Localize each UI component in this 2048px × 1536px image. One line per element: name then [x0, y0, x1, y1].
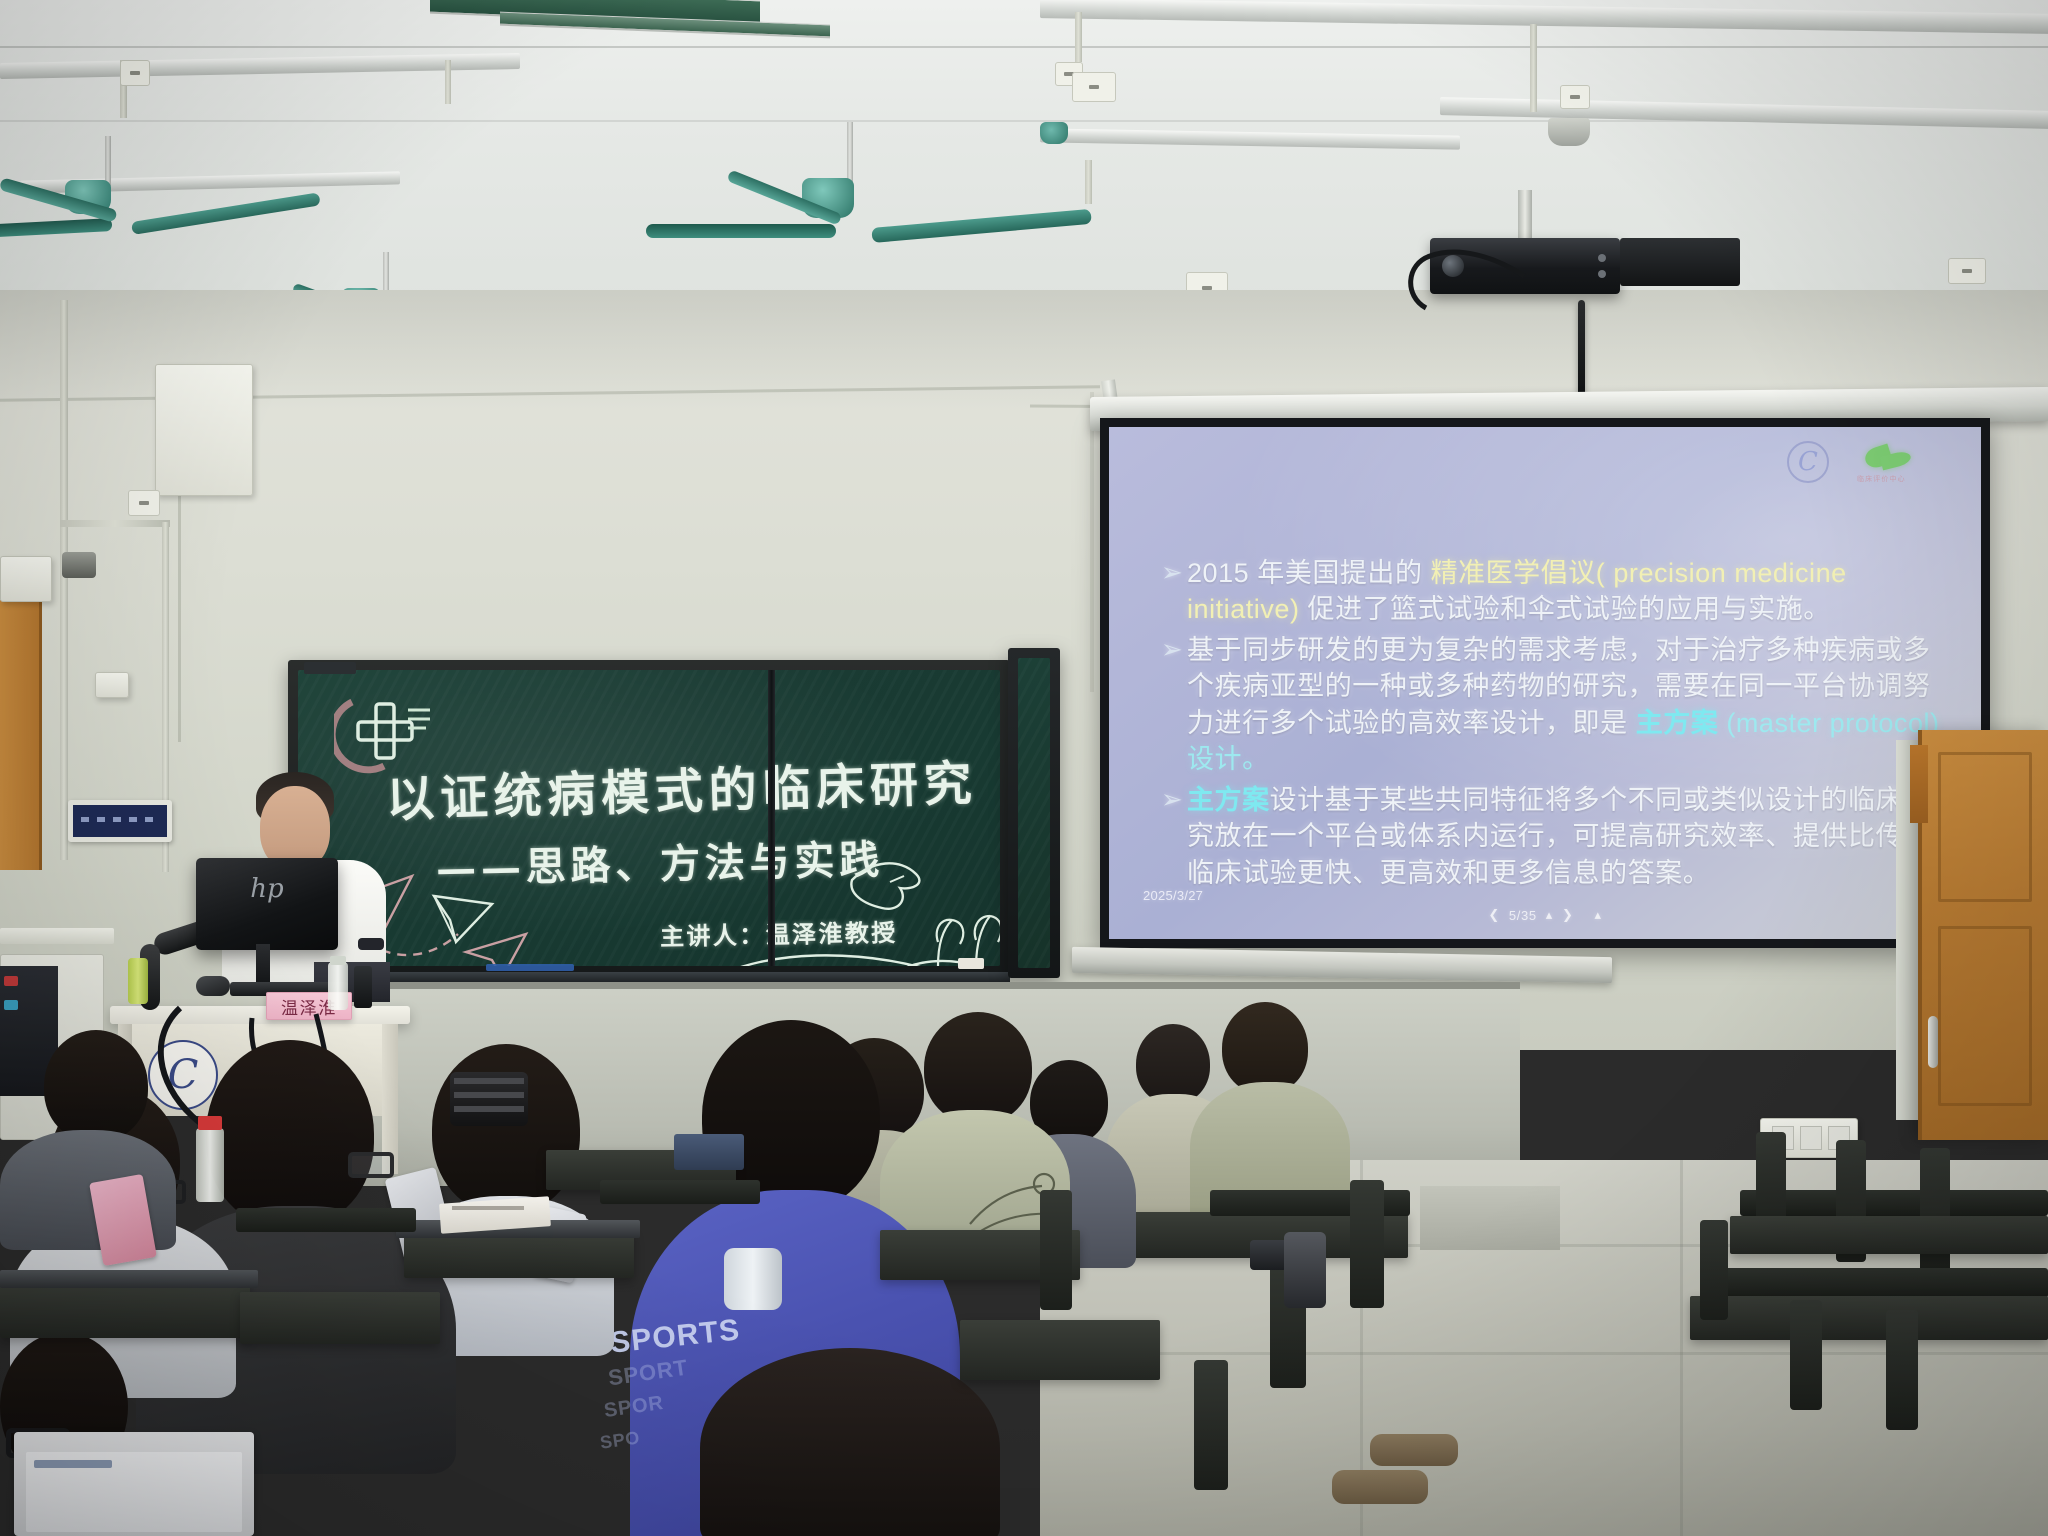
- nav-up-icon[interactable]: ▴: [1546, 907, 1553, 923]
- nav-counter: 5/35: [1509, 908, 1537, 923]
- ceiling-fan: [20, 136, 310, 286]
- chair-back: [1194, 1360, 1228, 1490]
- hp-logo: hp: [250, 874, 283, 904]
- floor-tile-seam: [1680, 1160, 1683, 1536]
- ceiling-fan: [740, 122, 1080, 282]
- bullet-text-2: 基于同步研发的更为复杂的需求考虑，对于治疗多种疾病或多个疾病亚型的一种或多种药物…: [1187, 632, 1951, 778]
- ceiling-junction-box: [1948, 258, 1986, 284]
- leaf-logo-caption: 临床评价中心: [1857, 474, 1906, 484]
- chair-back: [1700, 1220, 1728, 1320]
- ceiling-socket: [1560, 85, 1590, 109]
- paper-line: [452, 1206, 524, 1210]
- audience-head: [44, 1030, 148, 1142]
- blackboard-panel-divider: [768, 670, 775, 966]
- desk-row: [1690, 1296, 2048, 1340]
- cabinet-indicator: [4, 976, 18, 986]
- ceiling-drop-rod: [1075, 12, 1082, 62]
- bullet-1-seg-1: 2015 年美国提出的: [1187, 558, 1431, 588]
- door-handle[interactable]: [1928, 1016, 1938, 1068]
- nav-prev-icon[interactable]: ❮: [1488, 907, 1500, 923]
- ceiling-drop-rod: [445, 60, 451, 104]
- circular-institute-logo: C: [1787, 441, 1829, 483]
- nav-menu-icon[interactable]: ▴: [1595, 907, 1602, 923]
- chalk-marker: [486, 964, 574, 971]
- ceiling-drop-rod: [1085, 160, 1092, 204]
- bullet-2-seg-2-highlight: 主方案: [1636, 708, 1719, 738]
- blackboard-brand-tag: [304, 662, 356, 674]
- cabinet-indicator: [4, 1000, 18, 1010]
- ground-line-doodle: [708, 938, 1000, 966]
- audience-member-foreground: [700, 1348, 1000, 1536]
- ceiling-socket: [120, 60, 150, 86]
- bag: [1284, 1232, 1326, 1308]
- light-switch[interactable]: [1800, 1126, 1822, 1150]
- mouse[interactable]: [196, 976, 230, 996]
- chair-back: [1350, 1180, 1384, 1308]
- bullet-marker-icon: ➢: [1161, 632, 1187, 778]
- side-door[interactable]: [0, 600, 42, 870]
- ceiling-junction-box: [1072, 72, 1116, 102]
- door-upper-panel: [1938, 752, 2032, 902]
- audience-member: [1190, 1002, 1350, 1222]
- bullet-text-3: 主方案设计基于某些共同特征将多个不同或类似设计的临床研究放在一个平台或体系内运行…: [1187, 782, 1951, 891]
- thermos-cup: [724, 1248, 782, 1310]
- stage-step: [1420, 1186, 1560, 1250]
- bench-row: [1700, 1268, 2048, 1298]
- desk-panel: [674, 1134, 744, 1170]
- shoe: [1332, 1470, 1428, 1504]
- door-lower-panel: [1938, 926, 2032, 1106]
- wall-equipment-box: [155, 364, 253, 496]
- blackboard-eraser: [958, 958, 984, 969]
- lecture-hall-photo: 以证统病模式的临床研究 ——思路、方法与实践 主讲人：温泽淮教授: [0, 0, 2048, 1536]
- blackboard-side-panel: [1008, 648, 1060, 978]
- desk-row: [0, 1282, 250, 1338]
- bullet-marker-icon: ➢: [1161, 555, 1187, 628]
- ceiling-drop-rod: [1530, 24, 1537, 112]
- fan-motor-cap: [1040, 122, 1068, 144]
- audience-head: [1222, 1002, 1308, 1094]
- wall-conduit: [60, 300, 68, 860]
- bottle-cap: [330, 956, 346, 965]
- slide-bullet-list: ➢ 2015 年美国提出的 精准医学倡议( precision medicine…: [1161, 555, 1951, 895]
- slide-bullet-2: ➢ 基于同步研发的更为复杂的需求考虑，对于治疗多种疾病或多个疾病亚型的一种或多种…: [1161, 632, 1951, 778]
- slide-nav-bar[interactable]: ❮ 5/35 ▴ ❯ ▴: [1488, 907, 1601, 923]
- bullet-marker-icon: ➢: [1161, 782, 1187, 891]
- presenter-watch: [358, 938, 384, 950]
- slide-bullet-3: ➢ 主方案设计基于某些共同特征将多个不同或类似设计的临床研究放在一个平台或体系内…: [1161, 782, 1951, 891]
- door-header-box: [0, 556, 52, 602]
- desk-surface: [0, 1270, 258, 1288]
- bullet-1-seg-3: 促进了篮式试验和伞式试验的应用与实施。: [1299, 594, 1830, 624]
- wall-seam: [1090, 392, 1094, 692]
- desk-row: [240, 1292, 440, 1344]
- bench-row: [1740, 1190, 2048, 1216]
- audience-head: [206, 1040, 374, 1228]
- bench-row: [236, 1208, 416, 1232]
- chair-back: [1920, 1148, 1950, 1274]
- bottle-cap: [198, 1116, 222, 1130]
- blackboard-title: 以证统病模式的临床研究: [385, 744, 978, 830]
- ceiling-panel-seam: [0, 46, 2048, 48]
- bench-row: [600, 1180, 760, 1204]
- projector-body-extension: [1620, 238, 1740, 286]
- cable-coil: [62, 552, 96, 578]
- projection-screen: C 临床评价中心 ➢ 2015 年美国提出的 精准医学倡议( precision…: [1100, 418, 1990, 948]
- slide-bullet-1: ➢ 2015 年美国提出的 精准医学倡议( precision medicine…: [1161, 555, 1951, 628]
- slide-date: 2025/3/27: [1143, 888, 1203, 903]
- eyeglasses: [348, 1152, 394, 1178]
- bullet-text-1: 2015 年美国提出的 精准医学倡议( precision medicine i…: [1187, 555, 1951, 628]
- audience-head: [700, 1348, 1000, 1536]
- chair-back: [1886, 1310, 1918, 1430]
- green-leaf-check-logo: 临床评价中心: [1855, 441, 1915, 483]
- slide-logo-group: C 临床评价中心: [1787, 441, 1915, 483]
- chair-back: [1040, 1190, 1072, 1310]
- microphone-drop-rod: [1578, 300, 1585, 400]
- desk-row: [1730, 1216, 2048, 1254]
- door-edge: [1910, 745, 1928, 823]
- wall-conduit: [60, 520, 170, 527]
- slide-surface: C 临床评价中心 ➢ 2015 年美国提出的 精准医学倡议( precision…: [1109, 427, 1981, 939]
- nav-next-icon[interactable]: ❯: [1562, 907, 1574, 923]
- stage-edge: [360, 982, 1520, 989]
- control-panel-display[interactable]: [68, 800, 172, 842]
- water-bottle: [196, 1128, 224, 1202]
- desk-row: [960, 1320, 1160, 1380]
- wall-socket: [128, 490, 160, 516]
- presenter-monitor[interactable]: hp: [196, 858, 338, 950]
- projector-cable: [1402, 230, 1602, 314]
- laptop-screen-text: [34, 1460, 112, 1468]
- chair-back: [1790, 1300, 1822, 1410]
- desk-row: [404, 1232, 634, 1278]
- bullet-3-seg-2: 设计基于某些共同特征将多个不同或类似设计的临床研究放在一个平台或体系内运行，可提…: [1187, 785, 1931, 888]
- wall-switch[interactable]: [95, 672, 129, 698]
- monitor-stand-neck: [256, 944, 270, 986]
- cabinet-top: [0, 928, 114, 944]
- shoe: [1370, 1434, 1458, 1466]
- bullet-3-seg-1-highlight: 主方案: [1187, 785, 1270, 815]
- classroom-door[interactable]: [1918, 730, 2048, 1140]
- green-bottle: [128, 958, 148, 1004]
- ceiling-speaker: [1548, 118, 1590, 146]
